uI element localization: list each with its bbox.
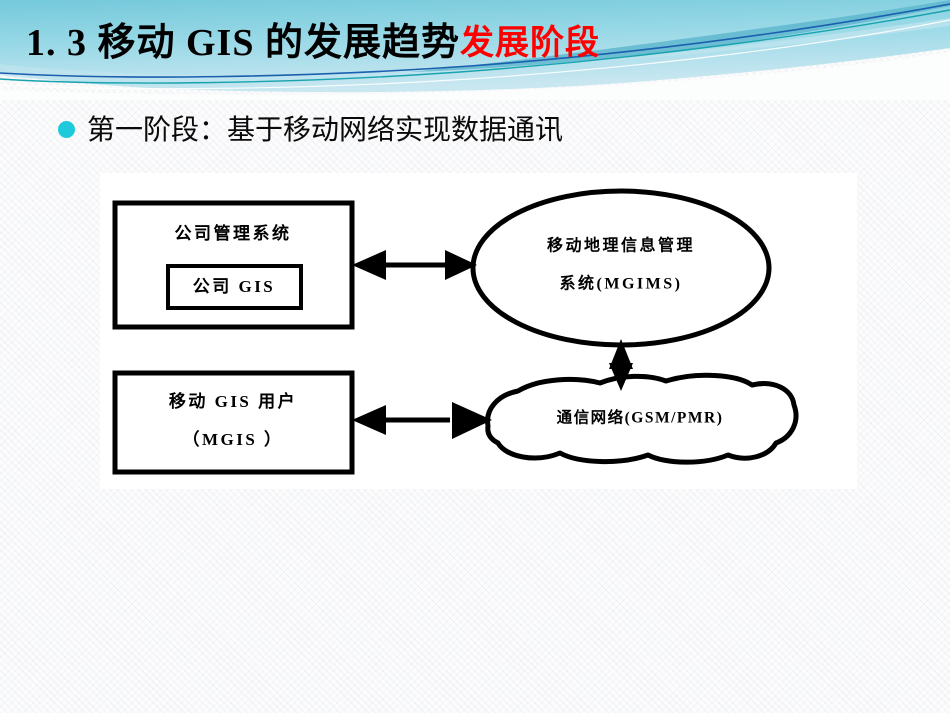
- edge-company-system-mgims: [352, 250, 477, 280]
- node-mgis-user-label-line1: 移动 GIS 用户: [169, 391, 297, 411]
- node-mgims: 移动地理信息管理 系统(MGIMS): [473, 191, 769, 345]
- slide-canvas: 1. 3 移动 GIS 的发展趋势发展阶段 第一阶段：基于移动网络实现数据通讯 …: [0, 0, 950, 713]
- diagram-image-panel: 公司管理系统 公司 GIS 移动地理信息管理 系统(MGIMS) 移动 GIS …: [100, 173, 857, 489]
- filled-circle-bullet-icon: [58, 121, 75, 138]
- page-title-main: 1. 3 移动 GIS 的发展趋势: [26, 22, 460, 64]
- node-company-gis: 公司 GIS: [168, 266, 301, 308]
- node-mgis-user-label-line2: （MGIS ）: [182, 429, 283, 449]
- node-mgis-user: 移动 GIS 用户 （MGIS ）: [115, 373, 352, 472]
- node-mgims-label-line1: 移动地理信息管理: [547, 236, 695, 255]
- node-mgims-label-line2: 系统(MGIMS): [560, 274, 683, 293]
- bullet-item-label: 第一阶段：基于移动网络实现数据通讯: [87, 108, 563, 148]
- node-comm-network-label: 通信网络(GSM/PMR): [557, 408, 724, 427]
- node-company-system-label: 公司管理系统: [175, 223, 292, 243]
- node-comm-network: 通信网络(GSM/PMR): [488, 375, 796, 462]
- page-title: 1. 3 移动 GIS 的发展趋势发展阶段: [26, 24, 600, 62]
- node-company-gis-label: 公司 GIS: [193, 277, 276, 296]
- bullet-list-item: 第一阶段：基于移动网络实现数据通讯: [58, 108, 563, 148]
- edge-mgis-user-comm-network: [352, 402, 492, 439]
- page-title-accent: 发展阶段: [460, 24, 600, 62]
